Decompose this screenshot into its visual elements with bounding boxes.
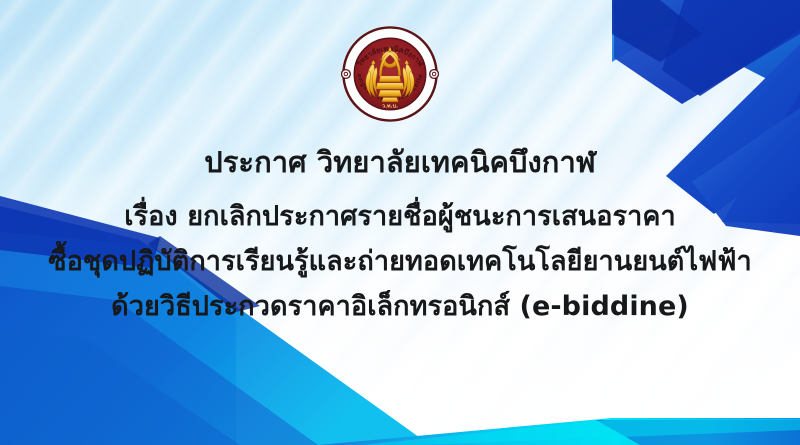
headline-line-2: เรื่อง ยกเลิกประกาศรายชื่อผู้ชนะการเสนอร… xyxy=(0,203,800,230)
headline-line-4: ด้วยวิธีประกวดราคาอิเล็กทรอนิกส์ (e-bidd… xyxy=(0,293,800,320)
headline-line-1: ประกาศ วิทยาลัยเทคนิคบึงกาฬ xyxy=(0,148,800,177)
headline-line-3: ซื้อชุดปฏิบัติการเรียนรู้และถ่ายทอดเทคโน… xyxy=(0,248,800,275)
seal-side-medallion-left xyxy=(341,70,350,79)
college-seal-logo: วิทยาลัยเทคนิคบึงกาฬ buengkan technical … xyxy=(341,25,439,123)
announcement-banner: วิทยาลัยเทคนิคบึงกาฬ buengkan technical … xyxy=(0,0,800,445)
headline-block: ประกาศ วิทยาลัยเทคนิคบึงกาฬ เรื่อง ยกเลิ… xyxy=(0,148,800,320)
seal-center-abbreviation: ว.ท.บ. xyxy=(382,103,398,109)
seal-side-medallion-right xyxy=(430,70,439,79)
